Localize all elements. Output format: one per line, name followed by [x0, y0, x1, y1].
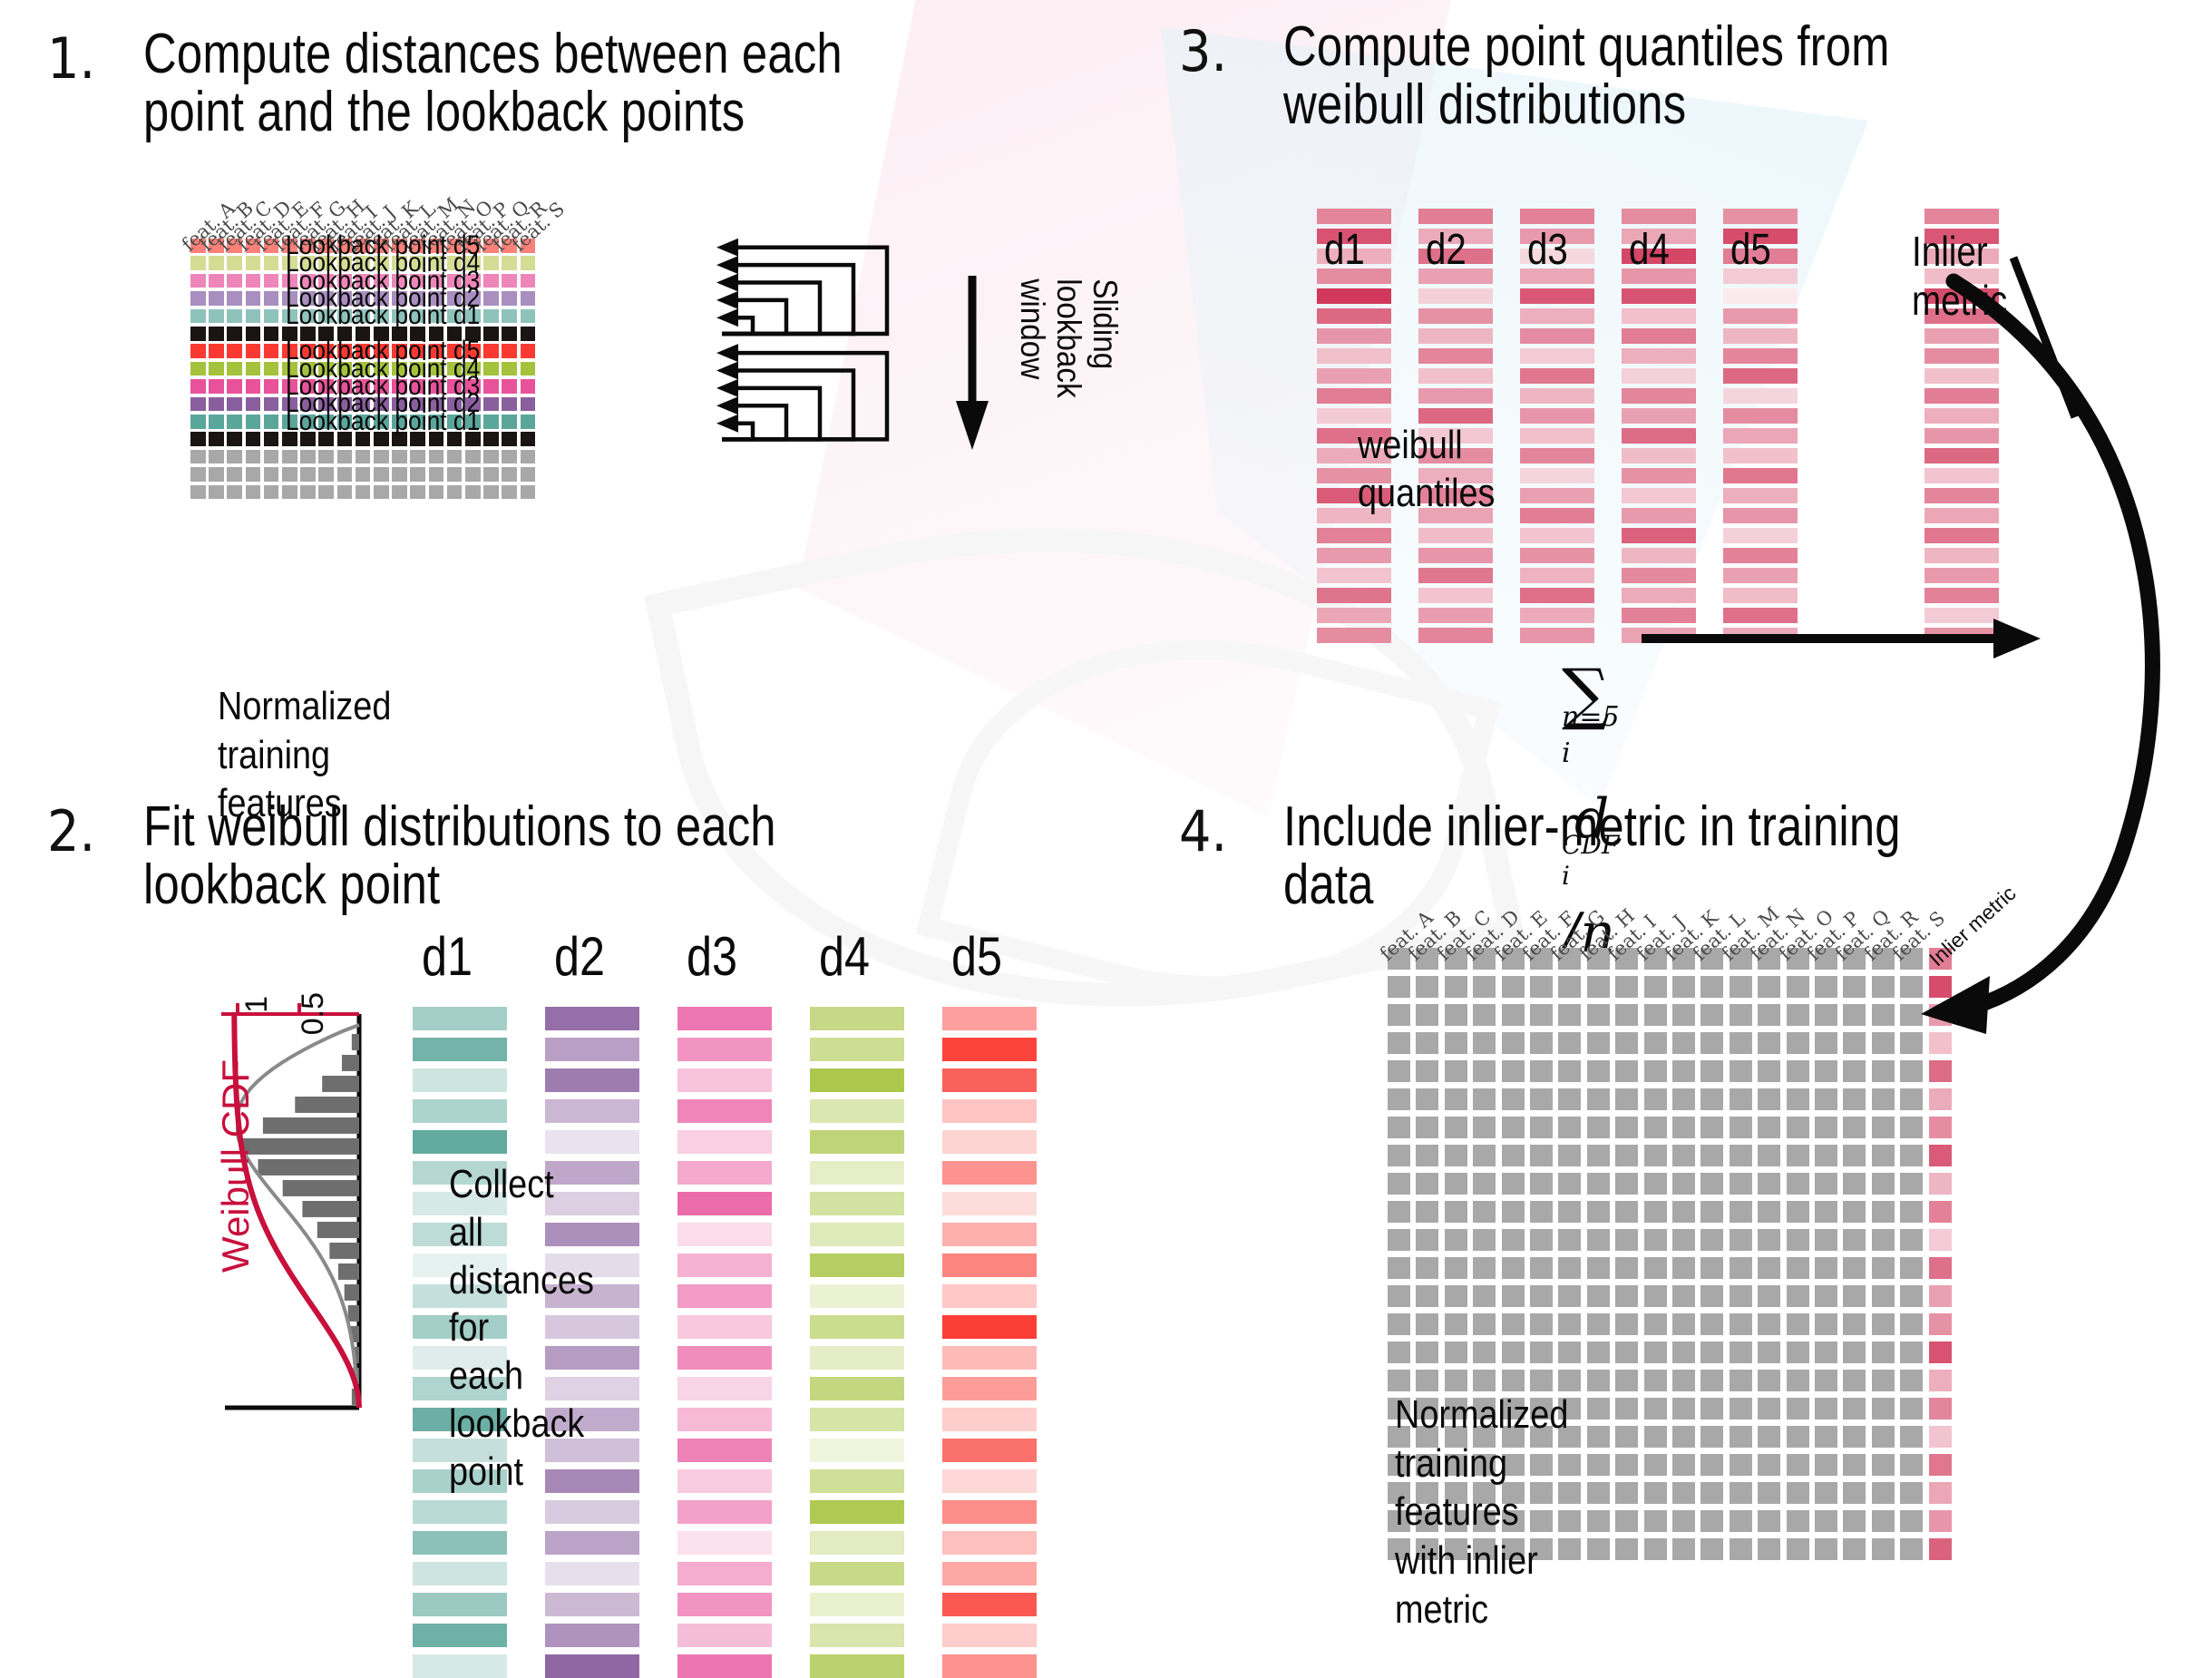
grid-cell — [1615, 1538, 1638, 1560]
grid-cell — [264, 467, 279, 482]
grid-cell — [1872, 1173, 1895, 1195]
grid-cell — [1502, 1173, 1525, 1195]
grid-cell — [1644, 1426, 1667, 1448]
grid-cell — [1587, 1285, 1610, 1307]
grid-cell — [392, 450, 407, 464]
panel-3-title: Compute point quantiles from weibull dis… — [1283, 18, 2161, 135]
grid-cell — [264, 397, 279, 412]
grid-cell — [447, 415, 463, 429]
column-header-d2: d2 — [1426, 225, 1467, 275]
grid-cell — [1872, 1145, 1895, 1166]
grid-cell — [465, 485, 481, 500]
grid-cell — [1587, 1426, 1610, 1448]
grid-cell — [1615, 1201, 1638, 1223]
grid-cell — [318, 344, 334, 358]
grid-cell — [429, 415, 444, 429]
grid-cell — [300, 432, 316, 446]
weibull-quantile-bar — [1317, 368, 1391, 384]
grid-cell — [1872, 1201, 1895, 1223]
grid-cell — [1843, 1313, 1866, 1335]
weibull-quantile-bar — [1723, 508, 1798, 523]
grid-cell — [1900, 1285, 1923, 1307]
grid-cell — [392, 309, 407, 324]
grid-cell — [465, 397, 481, 412]
weibull-quantile-bar — [1317, 608, 1391, 623]
grid-cell — [209, 397, 224, 412]
grid-cell — [1587, 1117, 1610, 1138]
grid-cell — [1502, 1313, 1525, 1335]
grid-cell — [1416, 1117, 1438, 1138]
grid-cell — [1615, 1370, 1638, 1391]
grid-cell — [447, 309, 463, 324]
inlier-metric-cell — [1929, 1341, 1952, 1363]
grid-cell — [209, 450, 224, 464]
weibull-quantile-bar — [1520, 628, 1594, 643]
weibull-quantile-bar — [1520, 288, 1594, 304]
grid-cell — [465, 415, 481, 429]
grid-cell — [410, 450, 425, 464]
grid-cell — [246, 344, 261, 358]
grid-cell — [1900, 1398, 1923, 1419]
grid-cell — [1843, 1482, 1866, 1504]
grid-cell — [356, 379, 371, 394]
grid-cell — [1872, 1482, 1895, 1504]
weibull-cdf-axis-label: Weibull CDF — [214, 1059, 258, 1273]
weibull-quantile-bar — [1622, 448, 1696, 463]
grid-cell — [1843, 1060, 1866, 1082]
grid-cell — [1530, 1285, 1553, 1307]
grid-cell — [1843, 1426, 1866, 1448]
weibull-distance-bar — [942, 1223, 1037, 1246]
grid-cell — [1843, 1398, 1866, 1419]
grid-cell — [1900, 1060, 1923, 1082]
grid-cell — [465, 256, 481, 270]
grid-cell — [1758, 976, 1780, 998]
grid-cell — [1843, 1032, 1866, 1054]
grid-cell — [374, 362, 389, 376]
weibull-quantile-bar — [1723, 588, 1798, 603]
grid-cell — [282, 256, 297, 270]
grid-cell — [282, 450, 297, 464]
grid-cell — [1473, 1313, 1496, 1335]
grid-cell — [300, 274, 316, 288]
grid-cell — [1758, 1060, 1780, 1082]
grid-cell — [1787, 1173, 1809, 1195]
grid-cell — [1416, 1370, 1438, 1391]
grid-cell — [1587, 1341, 1610, 1363]
grid-cell — [1644, 1229, 1667, 1251]
grid-cell — [356, 327, 371, 341]
grid-cell — [1672, 1032, 1695, 1054]
weibull-quantile-bar — [1520, 568, 1594, 583]
grid-cell — [190, 485, 206, 500]
weibull-quantile-bar — [1418, 608, 1493, 623]
weibull-distance-bar — [810, 1315, 904, 1339]
grid-cell — [1758, 1398, 1780, 1419]
weibull-quantile-bar — [1418, 308, 1493, 324]
grid-cell — [264, 327, 279, 341]
grid-cell — [1700, 1426, 1723, 1448]
grid-cell — [1815, 1454, 1837, 1476]
weibull-quantile-bar — [1723, 368, 1798, 384]
grid-cell — [1815, 1004, 1837, 1026]
grid-cell — [502, 467, 517, 482]
grid-cell — [447, 291, 463, 306]
grid-cell — [483, 467, 499, 482]
grid-cell — [209, 432, 224, 446]
grid-cell — [1644, 1341, 1667, 1363]
grid-cell — [1502, 1032, 1525, 1054]
grid-cell — [209, 327, 224, 341]
grid-cell — [227, 397, 242, 412]
grid-cell — [1615, 1341, 1638, 1363]
grid-cell — [483, 327, 499, 341]
weibull-quantile-bar — [1418, 288, 1493, 304]
grid-cell — [264, 274, 279, 288]
grid-cell — [356, 450, 371, 464]
grid-cell — [1900, 1510, 1923, 1532]
grid-cell — [1815, 1426, 1837, 1448]
grid-cell — [1473, 1173, 1496, 1195]
grid-cell — [190, 309, 206, 324]
grid-cell — [246, 291, 261, 306]
grid-cell — [1787, 1088, 1809, 1110]
collect-distances-overlay-label: Collect all distances for each lookback … — [449, 1161, 594, 1497]
grid-cell — [1900, 1257, 1923, 1279]
grid-cell — [209, 467, 224, 482]
grid-cell — [227, 327, 242, 341]
grid-cell — [209, 415, 224, 429]
grid-cell — [1416, 1088, 1438, 1110]
weibull-distance-bar — [677, 1469, 772, 1493]
grid-cell — [1587, 1004, 1610, 1026]
weibull-distance-bar — [677, 1500, 772, 1524]
grid-cell — [1843, 1341, 1866, 1363]
grid-cell — [1445, 1117, 1467, 1138]
grid-cell — [1843, 1454, 1866, 1476]
grid-cell — [1644, 1088, 1667, 1110]
grid-cell — [1445, 1060, 1467, 1082]
grid-cell — [1615, 1313, 1638, 1335]
grid-cell — [502, 274, 517, 288]
inlier-metric-cell — [1929, 1538, 1952, 1560]
grid-cell — [1815, 1313, 1837, 1335]
grid-cell — [356, 415, 371, 429]
grid-cell — [1672, 976, 1695, 998]
grid-cell — [392, 415, 407, 429]
grid-cell — [190, 344, 206, 358]
grid-cell — [246, 379, 261, 394]
grid-cell — [227, 256, 242, 270]
grid-cell — [465, 432, 481, 446]
grid-cell — [447, 327, 463, 341]
grid-cell — [1787, 1201, 1809, 1223]
grid-cell — [300, 327, 316, 341]
grid-cell — [1587, 1510, 1610, 1532]
grid-cell — [1787, 1257, 1809, 1279]
grid-cell — [521, 450, 536, 464]
grid-cell — [374, 256, 389, 270]
weibull-distance-bar — [413, 1624, 507, 1647]
grid-cell — [1758, 1510, 1780, 1532]
grid-cell — [1473, 1145, 1496, 1166]
grid-cell — [1587, 1538, 1610, 1560]
grid-cell — [246, 309, 261, 324]
inlier-metric-cell — [1929, 1088, 1952, 1110]
grid-cell — [521, 291, 536, 306]
grid-cell — [392, 467, 407, 482]
grid-cell — [1558, 1341, 1581, 1363]
grid-cell — [1587, 1482, 1610, 1504]
weibull-distance-bar — [810, 1593, 904, 1616]
weibull-distance-bar — [677, 1408, 772, 1431]
weibull-quantile-bar — [1622, 568, 1696, 583]
grid-cell — [1758, 1538, 1780, 1560]
weibull-distance-bar — [545, 1624, 639, 1647]
grid-cell — [1815, 1145, 1837, 1166]
grid-cell — [1872, 1313, 1895, 1335]
grid-cell — [1872, 1426, 1895, 1448]
weibull-distance-bar — [942, 1346, 1037, 1370]
grid-cell — [1473, 1088, 1496, 1110]
grid-cell — [1758, 1257, 1780, 1279]
grid-cell — [1473, 1285, 1496, 1307]
grid-cell — [465, 309, 481, 324]
weibull-quantile-bar — [1723, 209, 1798, 224]
grid-cell — [209, 362, 224, 376]
grid-cell — [374, 327, 389, 341]
grid-cell — [429, 327, 444, 341]
grid-cell — [1445, 1313, 1467, 1335]
grid-cell — [1473, 1060, 1496, 1082]
weibull-quantile-bar — [1317, 568, 1391, 583]
grid-cell — [410, 432, 425, 446]
grid-cell — [1615, 1454, 1638, 1476]
weibull-distance-bar — [545, 1593, 639, 1616]
grid-cell — [1587, 1370, 1610, 1391]
grid-cell — [1615, 1004, 1638, 1026]
inlier-metric-cell — [1929, 1482, 1952, 1504]
weibull-quantile-bar — [1317, 288, 1391, 304]
grid-cell — [447, 485, 463, 500]
grid-cell — [209, 485, 224, 500]
grid-cell — [410, 344, 425, 358]
grid-cell — [1843, 1145, 1866, 1166]
grid-cell — [1587, 1060, 1610, 1082]
grid-cell — [521, 432, 536, 446]
weibull-cdf-chart — [181, 998, 381, 1424]
weibull-quantile-bar — [1520, 428, 1594, 444]
grid-cell — [1445, 1088, 1467, 1110]
grid-cell — [300, 415, 316, 429]
grid-cell — [246, 362, 261, 376]
grid-cell — [1445, 1370, 1467, 1391]
grid-cell — [318, 327, 334, 341]
grid-cell — [1700, 1257, 1723, 1279]
grid-cell — [1758, 1370, 1780, 1391]
weibull-quantile-bar — [1418, 348, 1493, 364]
grid-cell — [227, 432, 242, 446]
inlier-metric-cell — [1929, 1257, 1952, 1279]
grid-cell — [264, 309, 279, 324]
grid-cell — [1843, 1173, 1866, 1195]
grid-cell — [1730, 1004, 1752, 1026]
cdf-tick-05: 0.5 — [296, 992, 331, 1035]
weibull-quantile-bar — [1520, 308, 1594, 324]
weibull-quantile-bar — [1520, 528, 1594, 543]
grid-cell — [300, 450, 316, 464]
grid-cell — [1843, 1004, 1866, 1026]
weibull-distance-bar — [545, 1130, 639, 1154]
grid-cell — [356, 467, 371, 482]
grid-cell — [1872, 1341, 1895, 1363]
grid-cell — [1700, 1229, 1723, 1251]
grid-cell — [1815, 1398, 1837, 1419]
grid-cell — [1445, 1004, 1467, 1026]
grid-cell — [1615, 976, 1638, 998]
grid-cell — [1388, 1060, 1410, 1082]
grid-cell — [1502, 1088, 1525, 1110]
inlier-metric-cell — [1929, 1370, 1952, 1391]
weibull-distance-bar — [810, 1654, 904, 1678]
grid-cell — [1672, 1173, 1695, 1195]
grid-cell — [392, 432, 407, 446]
grid-cell — [1558, 1257, 1581, 1279]
weibull-distance-bar — [942, 1469, 1037, 1493]
grid-cell — [429, 485, 444, 500]
grid-cell — [410, 362, 425, 376]
grid-cell — [282, 309, 297, 324]
grid-cell — [1530, 1004, 1553, 1026]
weibull-quantile-bar — [1520, 608, 1594, 623]
grid-cell — [410, 291, 425, 306]
grid-cell — [246, 450, 261, 464]
grid-cell — [1758, 1173, 1780, 1195]
grid-cell — [1872, 1088, 1895, 1110]
weibull-quantile-bar — [1723, 548, 1798, 563]
grid-cell — [447, 362, 463, 376]
grid-cell — [502, 432, 517, 446]
weibull-distance-bar — [677, 1593, 772, 1616]
column-header-d4: d4 — [1629, 225, 1670, 275]
grid-cell — [521, 467, 536, 482]
grid-cell — [392, 485, 407, 500]
grid-cell — [1730, 1173, 1752, 1195]
weibull-quantile-bar — [1418, 209, 1493, 224]
grid-cell — [1900, 1229, 1923, 1251]
grid-cell — [1615, 1088, 1638, 1110]
grid-cell — [318, 397, 334, 412]
grid-cell — [1530, 1257, 1553, 1279]
grid-cell — [410, 415, 425, 429]
weibull-distance-bar — [942, 1038, 1037, 1061]
weibull-distance-bar — [545, 1654, 639, 1678]
grid-cell — [1787, 1229, 1809, 1251]
grid-cell — [1700, 1201, 1723, 1223]
grid-cell — [318, 309, 334, 324]
grid-cell — [447, 274, 463, 288]
grid-cell — [392, 274, 407, 288]
grid-cell — [1672, 1426, 1695, 1448]
grid-cell — [1815, 1060, 1837, 1082]
grid-cell — [1900, 1032, 1923, 1054]
grid-cell — [356, 309, 371, 324]
grid-cell — [1730, 1313, 1752, 1335]
grid-cell — [465, 291, 481, 306]
grid-cell — [1700, 1482, 1723, 1504]
grid-cell — [1700, 1538, 1723, 1560]
grid-cell — [1815, 1538, 1837, 1560]
grid-cell — [246, 485, 261, 500]
grid-cell — [483, 450, 499, 464]
grid-cell — [1730, 1257, 1752, 1279]
grid-cell — [1615, 1060, 1638, 1082]
weibull-quantile-bar — [1317, 209, 1391, 224]
grid-cell — [1388, 1257, 1410, 1279]
grid-cell — [1388, 1313, 1410, 1335]
grid-cell — [483, 309, 499, 324]
weibull-distance-bar — [413, 1654, 507, 1678]
grid-cell — [1672, 1088, 1695, 1110]
weibull-distance-bar — [545, 1531, 639, 1555]
panel-1-title: Compute distances between each point and… — [143, 25, 931, 142]
grid-cell — [1758, 1004, 1780, 1026]
weibull-quantile-bar — [1723, 488, 1798, 503]
weibull-distance-bar — [413, 1038, 507, 1061]
grid-cell — [1787, 1313, 1809, 1335]
grid-cell — [1587, 1257, 1610, 1279]
weibull-distance-bar — [942, 1562, 1037, 1585]
grid-cell — [1872, 1370, 1895, 1391]
grid-cell — [1730, 1370, 1752, 1391]
grid-cell — [1530, 976, 1553, 998]
weibull-quantile-bar — [1317, 528, 1391, 543]
grid-cell — [356, 274, 371, 288]
grid-cell — [1815, 976, 1837, 998]
grid-cell — [1758, 1454, 1780, 1476]
grid-cell — [1587, 1088, 1610, 1110]
grid-cell — [1872, 1060, 1895, 1082]
weibull-distance-bar — [677, 1315, 772, 1339]
inlier-metric-cell — [1929, 1313, 1952, 1335]
grid-cell — [1558, 1060, 1581, 1082]
grid-cell — [1815, 1201, 1837, 1223]
grid-cell — [1843, 1201, 1866, 1223]
grid-cell — [300, 397, 316, 412]
grid-cell — [1558, 1145, 1581, 1166]
grid-cell — [1644, 1285, 1667, 1307]
grid-cell — [190, 362, 206, 376]
grid-cell — [1416, 1229, 1438, 1251]
grid-cell — [1672, 1398, 1695, 1419]
grid-cell — [318, 450, 334, 464]
grid-cell — [227, 485, 242, 500]
weibull-distance-bar — [677, 1130, 772, 1154]
grid-cell — [521, 256, 536, 270]
grid-cell — [1787, 1032, 1809, 1054]
weibull-quantile-bar — [1622, 588, 1696, 603]
grid-cell — [1615, 1145, 1638, 1166]
grid-cell — [1700, 1173, 1723, 1195]
grid-cell — [1730, 1482, 1752, 1504]
grid-cell — [502, 362, 517, 376]
grid-cell — [1843, 1257, 1866, 1279]
grid-cell — [502, 327, 517, 341]
grid-cell — [1587, 976, 1610, 998]
grid-cell — [483, 362, 499, 376]
grid-cell — [410, 256, 425, 270]
grid-cell — [1672, 1004, 1695, 1026]
